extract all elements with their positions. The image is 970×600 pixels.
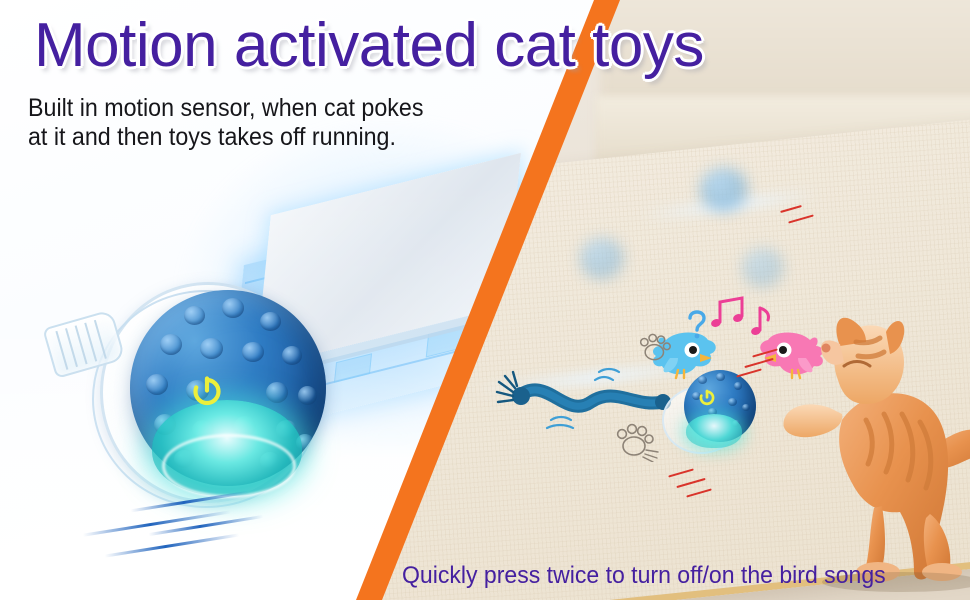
blurred-ball xyxy=(580,238,624,280)
paw-print-icon xyxy=(612,420,660,462)
power-icon xyxy=(186,369,228,411)
product-feature-banner: Motion activated cat toys Built in motio… xyxy=(0,0,970,600)
speed-lines-icon xyxy=(60,492,270,562)
cat xyxy=(782,300,970,600)
paw-print-icon xyxy=(636,330,676,366)
scene-motion-ball xyxy=(676,370,756,450)
bottom-caption-text: Quickly press twice to turn off/on the b… xyxy=(402,562,886,590)
rope-tail-toy xyxy=(495,358,685,428)
blurred-ball xyxy=(700,168,748,212)
subtitle-text: Built in motion sensor, when cat pokes a… xyxy=(28,94,423,152)
page-title: Motion activated cat toys xyxy=(34,10,704,81)
led-glow-ring xyxy=(162,434,296,498)
scene-ball-glow xyxy=(686,414,742,448)
music-note-icon xyxy=(710,298,768,336)
power-icon xyxy=(698,388,716,406)
blurred-ball xyxy=(742,248,784,288)
